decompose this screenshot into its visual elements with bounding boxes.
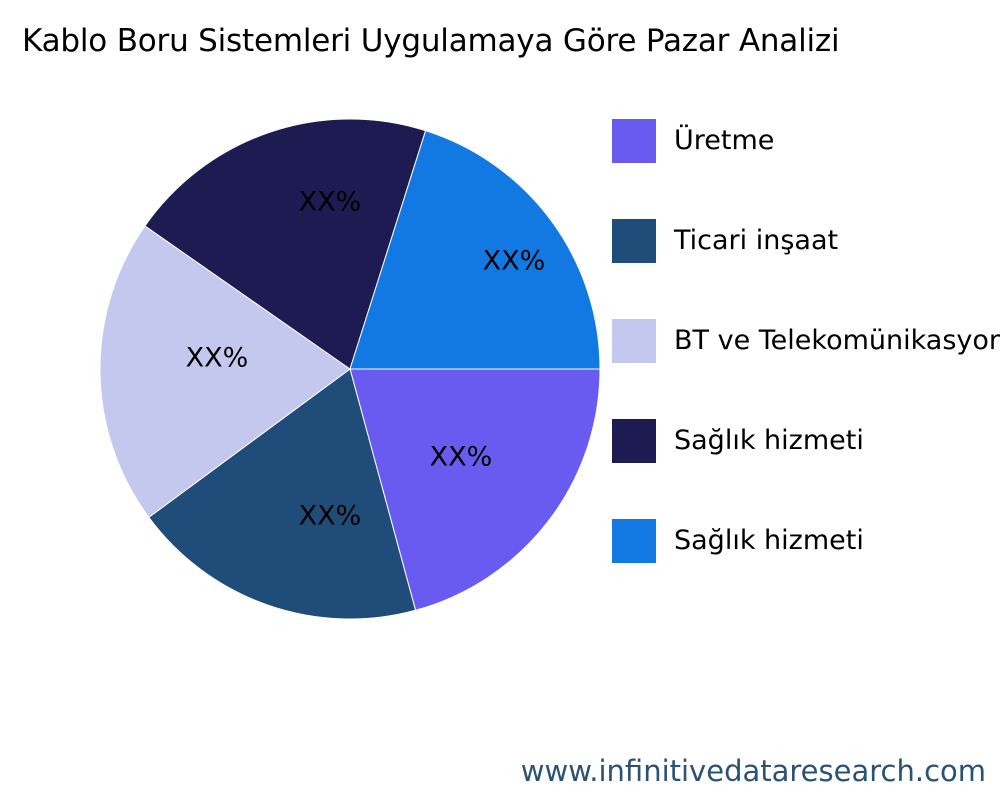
legend-swatch-icon [612,519,656,563]
legend-item-label: Sağlık hizmeti [674,419,864,463]
pie-slice-label-saglik-azure: XX% [483,246,546,277]
pie-slice-label-bt-telekom: XX% [186,343,249,374]
pie-chart: XX%XX%XX%XX%XX% [0,0,620,720]
legend-swatch-icon [612,119,656,163]
legend-item[interactable]: Ticari inşaat [612,210,1000,310]
footer-website-url[interactable]: www.infinitivedataresearch.com [521,754,986,788]
legend-item[interactable]: Üretme [612,110,1000,210]
legend-item[interactable]: Sağlık hizmeti [612,410,1000,510]
legend: ÜretmeTicari inşaatBT ve Telekomünikasyo… [612,110,1000,610]
pie-chart-svg: XX%XX%XX%XX%XX% [0,0,620,720]
legend-item[interactable]: Sağlık hizmeti [612,510,1000,610]
pie-slice-label-saglik-navy: XX% [299,187,362,218]
legend-item-label: Sağlık hizmeti [674,519,864,563]
legend-swatch-icon [612,419,656,463]
pie-slice-label-uretme: XX% [430,442,493,473]
legend-swatch-icon [612,319,656,363]
legend-item-label: BT ve Telekomünikasyon [674,319,1000,363]
legend-item[interactable]: BT ve Telekomünikasyon [612,310,1000,410]
legend-item-label: Ticari inşaat [674,219,838,263]
legend-swatch-icon [612,219,656,263]
pie-slice-label-ticari-insaat: XX% [299,501,362,532]
legend-item-label: Üretme [674,119,774,163]
